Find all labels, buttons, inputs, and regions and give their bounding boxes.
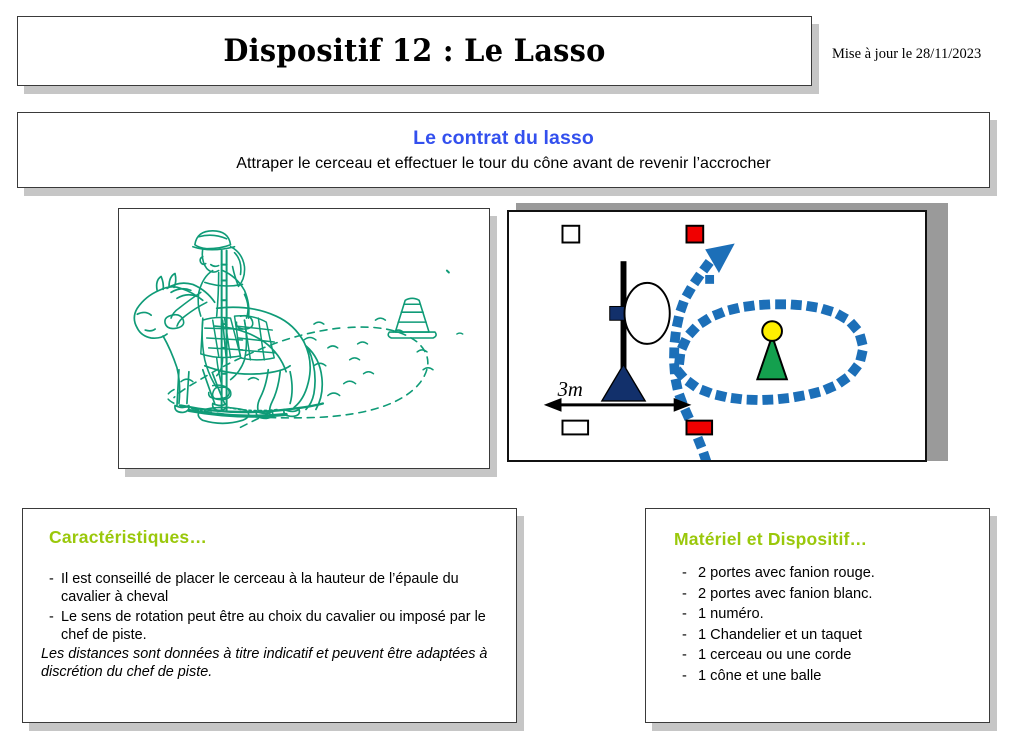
title-panel: Dispositif 12 : Le Lasso xyxy=(17,16,812,86)
list-item-text: 1 numéro. xyxy=(698,605,973,624)
materiel-panel: Matériel et Dispositif… - 2 portes avec … xyxy=(645,508,990,723)
cone-shape xyxy=(757,336,787,379)
path-dot xyxy=(705,275,714,284)
rider-illustration xyxy=(119,209,489,468)
contract-panel: Le contrat du lasso Attraper le cerceau … xyxy=(17,112,990,188)
update-timestamp: Mise à jour le 28/11/2023 xyxy=(832,46,981,63)
materiel-heading: Matériel et Dispositif… xyxy=(674,529,973,550)
caracteristiques-list: - Il est conseillé de placer le cerceau … xyxy=(39,570,500,644)
list-item: - 1 cerceau ou une corde xyxy=(662,646,973,665)
list-item: - 1 cône et une balle xyxy=(662,667,973,686)
bullet-marker: - xyxy=(662,667,698,686)
page-title: Dispositif 12 : Le Lasso xyxy=(223,33,605,69)
ball-shape xyxy=(762,321,782,341)
caracteristiques-note: Les distances sont données à titre indic… xyxy=(41,645,500,682)
bullet-marker: - xyxy=(662,646,698,665)
list-item: - 1 Chandelier et un taquet xyxy=(662,626,973,645)
bullet-marker: - xyxy=(662,626,698,645)
diagram-panel: 3m xyxy=(507,210,927,462)
white-flag-bottom xyxy=(562,421,588,435)
list-item: - Le sens de rotation peut être au choix… xyxy=(39,608,500,645)
bullet-marker: - xyxy=(662,605,698,624)
list-item-text: 2 portes avec fanion blanc. xyxy=(698,585,973,604)
list-item: - 2 portes avec fanion rouge. xyxy=(662,564,973,583)
list-item-text: Le sens de rotation peut être au choix d… xyxy=(61,608,500,645)
list-item-text: 1 Chandelier et un taquet xyxy=(698,626,973,645)
red-flag-bottom xyxy=(686,421,712,435)
bullet-marker: - xyxy=(662,585,698,604)
list-item: - 2 portes avec fanion blanc. xyxy=(662,585,973,604)
bullet-marker: - xyxy=(39,570,61,607)
diagram-panel-wrap: 3m xyxy=(507,210,939,468)
list-item-text: Il est conseillé de placer le cerceau à … xyxy=(61,570,500,607)
list-item-text: 2 portes avec fanion rouge. xyxy=(698,564,973,583)
cerceau-hoop xyxy=(624,283,669,344)
post-base-triangle xyxy=(602,365,645,401)
contract-subtitle: Attraper le cerceau et effectuer le tour… xyxy=(236,155,771,173)
white-flag-top xyxy=(562,226,579,243)
bullet-marker: - xyxy=(39,608,61,645)
list-item-text: 1 cône et une balle xyxy=(698,667,973,686)
course-diagram: 3m xyxy=(509,212,925,460)
caracteristiques-panel: Caractéristiques… - Il est conseillé de … xyxy=(22,508,517,723)
contract-heading: Le contrat du lasso xyxy=(413,127,594,150)
illustration-panel xyxy=(118,208,490,469)
distance-label: 3m xyxy=(557,379,583,401)
materiel-list: - 2 portes avec fanion rouge. - 2 portes… xyxy=(662,564,973,685)
red-flag-top xyxy=(686,226,703,243)
list-item: - 1 numéro. xyxy=(662,605,973,624)
caracteristiques-heading: Caractéristiques… xyxy=(49,527,500,548)
list-item: - Il est conseillé de placer le cerceau … xyxy=(39,570,500,607)
list-item-text: 1 cerceau ou une corde xyxy=(698,646,973,665)
bullet-marker: - xyxy=(662,564,698,583)
